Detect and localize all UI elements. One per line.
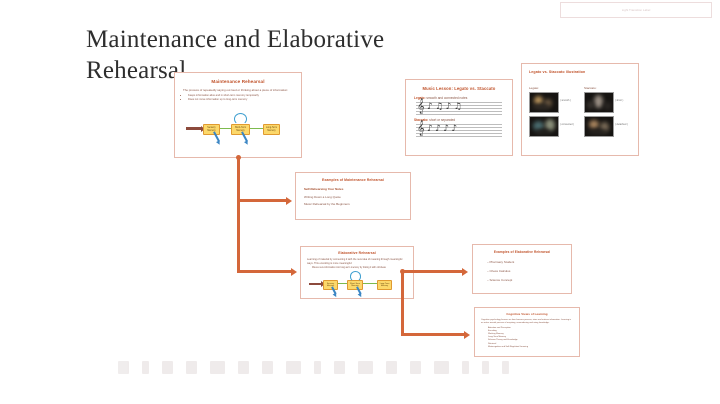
connector-maintenance-to-examples (237, 199, 287, 202)
toolbar-icon[interactable] (210, 361, 225, 374)
thumbnail-caption: ( detached ) (615, 123, 628, 126)
rehearsal-loop-icon (350, 271, 361, 282)
list-item: Moves new information into long-term mem… (312, 267, 413, 270)
arrowhead-icon (462, 268, 468, 276)
card-examples-maintenance-rehearsal[interactable]: Examples of Maintenance Rehearsal Self-R… (295, 172, 411, 220)
card-bullet-list: Moves new information into long-term mem… (312, 267, 413, 270)
presentation-canvas[interactable]: Maintenance and Elaborative Rehearsal Ma… (0, 0, 720, 404)
definition-legato: Legato: smooth and connected notes (414, 96, 504, 100)
arrowhead-icon (286, 197, 292, 205)
list-item: Does not move information up to long-ter… (188, 98, 301, 102)
list-item: Writing Down a Long Quote (304, 195, 402, 199)
card-title: Legato vs. Staccato Illustration (529, 70, 638, 74)
ghost-label: Light Transition Label (561, 3, 711, 17)
card-title: Music Lesson: Legato vs. Staccato (406, 86, 512, 91)
memory-flow-diagram: Sensory Memory Short-Term Memory Long-Te… (183, 115, 293, 145)
thumbnail-image[interactable] (584, 116, 614, 137)
toolbar-icon[interactable] (334, 361, 345, 374)
toolbar-icon[interactable] (386, 361, 397, 374)
card-paragraph: Cognitive psychology focuses on how lear… (481, 319, 573, 325)
card-legato-staccato-illustration[interactable]: Legato vs. Staccato Illustration Legato:… (521, 63, 639, 156)
note-glyphs: ♪♫♪♫ (427, 102, 464, 113)
toolbar-icon[interactable] (262, 361, 273, 374)
input-arrow-icon (309, 283, 321, 285)
card-cognitive-views-of-learning[interactable]: Cognitive Views of Learning Cognitive ps… (474, 307, 580, 357)
connector-elaborative-to-cognitive (401, 333, 465, 336)
thumbnail-caption: ( smooth ) (560, 99, 571, 102)
card-maintenance-rehearsal[interactable]: Maintenance Rehearsal The process of rep… (174, 72, 302, 158)
treble-clef-icon: 𝄞 (417, 122, 425, 136)
note-glyphs: ♪♪♪♪ (427, 124, 460, 135)
card-description: The process of repeatedly saying out lou… (183, 88, 293, 92)
toolbar-icon[interactable] (434, 361, 449, 374)
card-title: Examples of Maintenance Rehearsal (296, 178, 410, 182)
connector-maintenance-to-elaborative (237, 270, 292, 273)
toolbar-icon[interactable] (186, 361, 197, 374)
treble-clef-icon: 𝄞 (417, 100, 425, 114)
flow-box-long-term-memory: Long-Term Memory (377, 280, 392, 290)
toolbar-icon[interactable] (162, 361, 173, 374)
thumbnail-image[interactable] (584, 92, 614, 113)
rehearsal-loop-icon (234, 113, 247, 125)
toolbar-icon[interactable] (142, 361, 149, 374)
toolbar-icon[interactable] (286, 361, 301, 374)
connector-elaborative-to-examples (401, 270, 463, 273)
music-staff-staccato: 𝄞 ♪♪♪♪ (416, 123, 502, 136)
flow-box-short-term-memory: Short-Term Memory (231, 124, 250, 135)
toolbar-icon[interactable] (462, 361, 469, 374)
toolbar-icon[interactable] (238, 361, 249, 374)
list-item: Metacognition and Self-Regulated Learnin… (488, 346, 579, 349)
column-label-staccato: Staccato: (584, 86, 597, 90)
green-arrow-icon (361, 283, 377, 284)
input-arrow-icon (186, 127, 201, 130)
card-title: Cognitive Views of Learning (475, 312, 579, 316)
definition-text: short or separated (429, 118, 455, 122)
arrowhead-icon (291, 268, 297, 276)
card-elaborative-rehearsal[interactable]: Elaborative Rehearsal Learning of materi… (300, 246, 414, 299)
thumbnail-image[interactable] (529, 116, 559, 137)
thumbnail-image[interactable] (529, 92, 559, 113)
thumbnail-caption: ( connected ) (560, 123, 574, 126)
toolbar-icon[interactable] (502, 361, 509, 374)
flow-box-long-term-memory: Long-Term Memory (263, 124, 280, 135)
list-item: Music Rehearsal by the Beginners (304, 202, 402, 206)
ghost-transition-chip: Light Transition Label (560, 2, 712, 18)
card-title: Examples of Elaborative Rehearsal (473, 250, 571, 254)
thumbnail-caption: ( short ) (615, 99, 623, 102)
toolbar-icon[interactable] (118, 361, 129, 374)
card-title: Maintenance Rehearsal (175, 79, 301, 84)
connector-maintenance-trunk (237, 158, 240, 272)
column-label-legato: Legato: (529, 86, 539, 90)
toolbar-icon[interactable] (314, 361, 321, 374)
card-music-lesson[interactable]: Music Lesson: Legato vs. Staccato Legato… (405, 79, 513, 156)
card-description: Learning of material by connecting it wi… (307, 258, 407, 265)
ghost-toolbar[interactable] (108, 354, 668, 380)
list-item: – Chess Calculus (487, 269, 571, 273)
definition-text: smooth and connected notes (426, 96, 467, 100)
card-bullet-list: Keeps information alive and in short-ter… (188, 94, 301, 102)
flow-box-sensory-memory: Sensory Memory (203, 124, 220, 135)
green-arrow-icon (248, 128, 263, 129)
card-examples-elaborative-rehearsal[interactable]: Examples of Elaborative Rehearsal – Phar… (472, 244, 572, 294)
list-item: – Pharmacy Student (487, 260, 571, 264)
card-bullet-list: Attention and Perception Encoding Workin… (488, 327, 579, 349)
connector-elaborative-trunk (401, 271, 404, 335)
music-staff-legato: 𝄞 ♪♫♪♫ (416, 101, 502, 114)
list-item: Self-Rehearsing Your Notes (304, 187, 402, 191)
toolbar-icon[interactable] (482, 361, 489, 374)
card-title: Elaborative Rehearsal (301, 251, 413, 255)
definition-staccato: Staccato: short or separated (414, 118, 504, 122)
list-item: – Science Concept (487, 278, 571, 282)
toolbar-icon[interactable] (410, 361, 421, 374)
memory-flow-diagram: Sensory Memory Short-Term Memory Long-Te… (307, 275, 407, 293)
arrowhead-icon (464, 331, 470, 339)
toolbar-icon[interactable] (358, 361, 373, 374)
